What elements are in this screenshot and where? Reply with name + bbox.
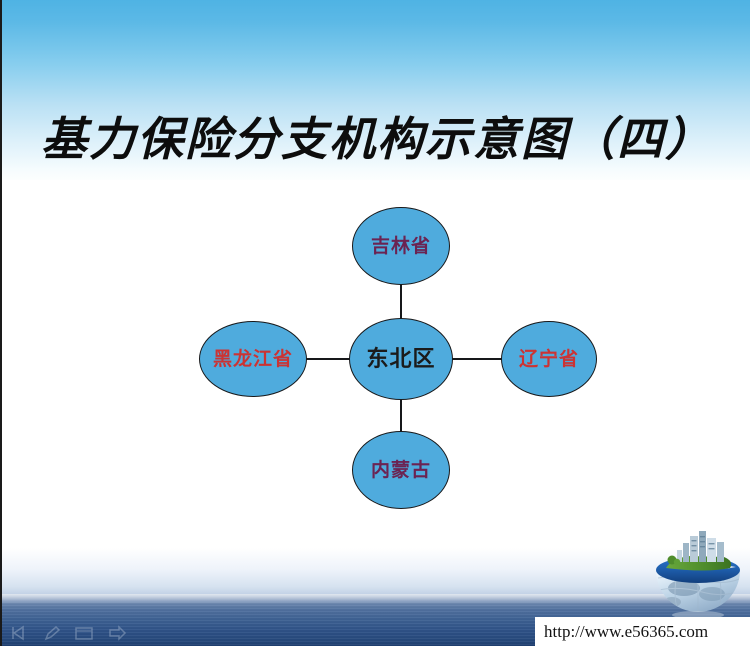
- slideshow-navigation-bar[interactable]: [10, 625, 127, 641]
- pen-icon[interactable]: [43, 625, 61, 641]
- node-heilongjiang-label: 黑龙江省: [213, 350, 293, 369]
- node-neimenggu[interactable]: 内蒙古: [352, 431, 450, 509]
- previous-slide-icon[interactable]: [10, 625, 30, 641]
- org-structure-diagram: 东北区 吉林省 黑龙江省 辽宁省 内蒙古: [2, 0, 750, 646]
- watermark-url-bar: http://www.e56365.com: [535, 617, 750, 646]
- node-center-label: 东北区: [366, 348, 435, 370]
- node-center-northeast[interactable]: 东北区: [349, 318, 453, 400]
- node-jilin-label: 吉林省: [371, 237, 431, 256]
- node-neimenggu-label: 内蒙古: [371, 461, 431, 480]
- node-liaoning-label: 辽宁省: [519, 350, 579, 369]
- node-liaoning[interactable]: 辽宁省: [501, 321, 597, 397]
- presentation-slide: 基力保险分支机构示意图（四） 东北区 吉林省 黑龙江省 辽宁省 内蒙古: [0, 0, 750, 646]
- slide-menu-icon[interactable]: [74, 625, 94, 641]
- node-jilin[interactable]: 吉林省: [352, 207, 450, 285]
- watermark-url-text[interactable]: http://www.e56365.com: [544, 622, 708, 642]
- next-slide-icon[interactable]: [107, 625, 127, 641]
- globe-city-logo: [650, 528, 746, 620]
- node-heilongjiang[interactable]: 黑龙江省: [199, 321, 307, 397]
